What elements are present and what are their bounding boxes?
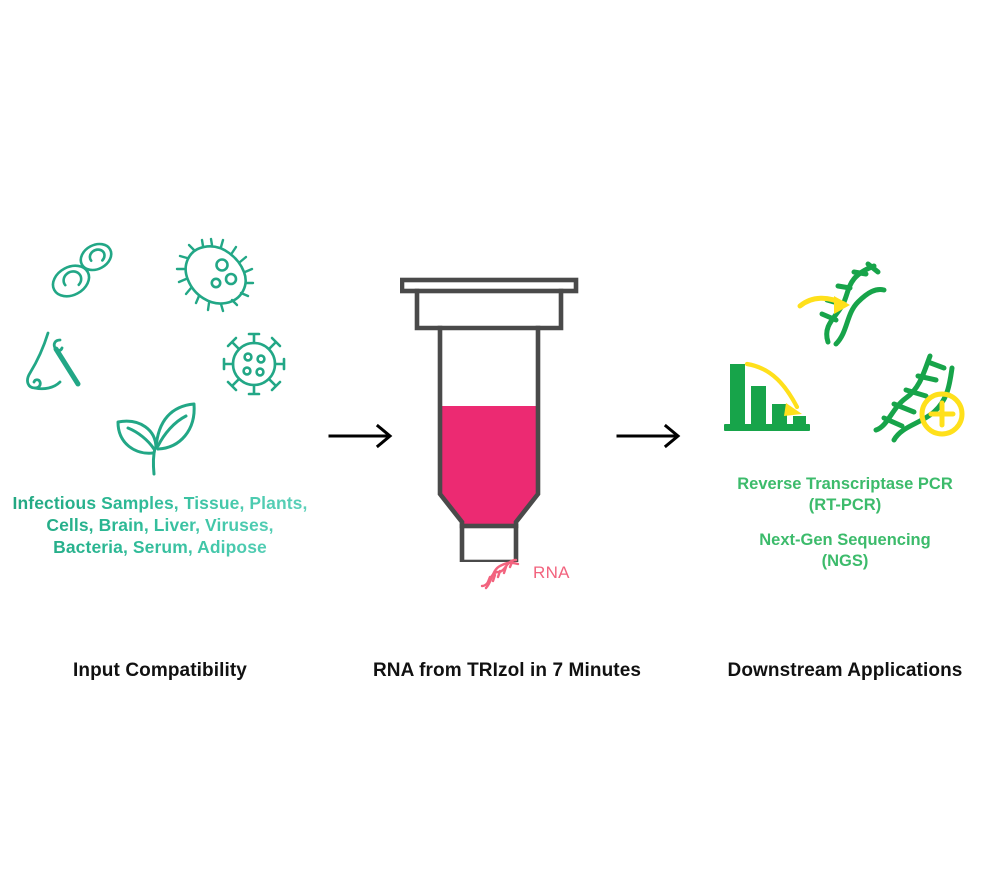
caption-input-compatibility: Input Compatibility bbox=[0, 660, 320, 682]
nasal-swab-icon bbox=[22, 330, 94, 408]
dna-plus-icon bbox=[872, 352, 972, 444]
application-entry-ngs: Next-Gen Sequencing (NGS) bbox=[690, 530, 1000, 571]
bacteria-icon bbox=[176, 238, 256, 314]
rna-helix-icon bbox=[478, 556, 528, 590]
bar-chart-decay-icon bbox=[720, 358, 812, 434]
application-entry-rtpcr-line-2: (RT-PCR) bbox=[690, 495, 1000, 516]
sample-list-text: Infectious Samples, Tissue, Plants, Cell… bbox=[0, 492, 320, 558]
sample-list-line-1: Infectious Samples, Tissue, Plants, bbox=[0, 492, 320, 514]
application-entry-ngs-line-2: (NGS) bbox=[690, 551, 1000, 572]
input-icon-cluster bbox=[0, 0, 320, 280]
rna-label-text: RNA bbox=[533, 563, 570, 583]
applications-text: Reverse Transcriptase PCR (RT-PCR) Next-… bbox=[690, 474, 1000, 571]
rna-strand-icon bbox=[792, 258, 890, 348]
virus-icon bbox=[218, 328, 290, 400]
blood-cells-icon bbox=[48, 238, 118, 308]
application-entry-rtpcr: Reverse Transcriptase PCR (RT-PCR) bbox=[690, 474, 1000, 515]
panel-downstream-applications: Reverse Transcriptase PCR (RT-PCR) Next-… bbox=[690, 0, 1000, 875]
spin-column-icon bbox=[400, 272, 615, 562]
application-entry-ngs-line-1: Next-Gen Sequencing bbox=[690, 530, 1000, 551]
caption-downstream-applications: Downstream Applications bbox=[690, 660, 1000, 682]
caption-process: RNA from TRIzol in 7 Minutes bbox=[352, 660, 662, 682]
application-entry-rtpcr-line-1: Reverse Transcriptase PCR bbox=[690, 474, 1000, 495]
flow-arrow-2 bbox=[616, 418, 688, 454]
panel-process: RNA bbox=[400, 0, 615, 875]
workflow-figure: Infectious Samples, Tissue, Plants, Cell… bbox=[0, 0, 1000, 875]
sample-list-line-3: Bacteria, Serum, Adipose bbox=[0, 536, 320, 558]
rna-output-label: RNA bbox=[478, 556, 570, 590]
panel-input-compatibility: Infectious Samples, Tissue, Plants, Cell… bbox=[0, 0, 320, 875]
sample-list-line-2: Cells, Brain, Liver, Viruses, bbox=[0, 514, 320, 536]
application-icon-cluster bbox=[690, 0, 1000, 210]
plant-leaves-icon bbox=[106, 396, 202, 476]
flow-arrow-1 bbox=[328, 418, 400, 454]
